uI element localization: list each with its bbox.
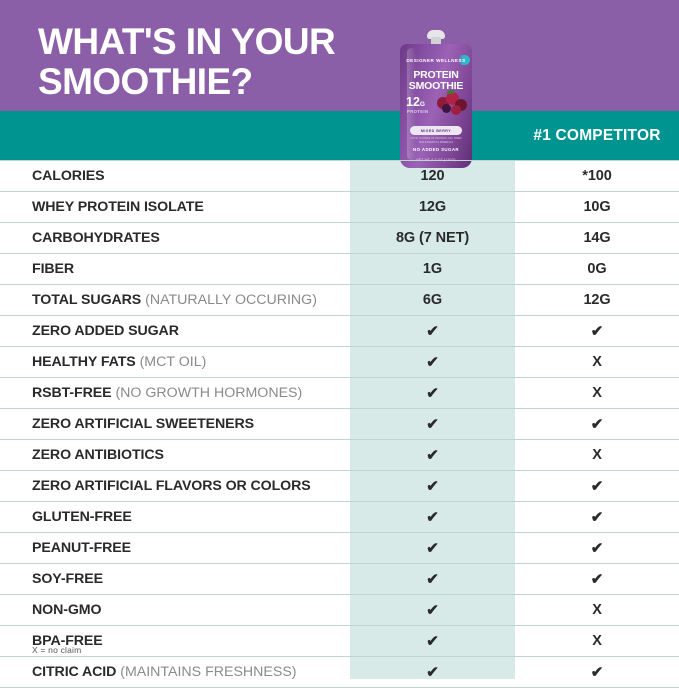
page-title-line1: WHAT'S IN YOUR [38,21,335,62]
product-value: 8G (7 NET) [350,230,515,246]
row-label: HEALTHY FATS (MCT OIL) [0,354,350,370]
competitor-value: X [515,633,679,649]
product-value-text: 12G [419,199,446,215]
table-row: RSBT-FREE (NO GROWTH HORMONES)✔X [0,378,679,409]
product-value: ✔ [350,570,515,588]
table-row: ZERO ARTIFICIAL SWEETENERS✔✔ [0,409,679,440]
row-label: CITRIC ACID (MAINTAINS FRESHNESS) [0,664,350,680]
table-row: ZERO ARTIFICIAL FLAVORS OR COLORS✔✔ [0,471,679,502]
check-icon: ✔ [426,571,438,588]
competitor-value: 12G [515,292,679,308]
check-icon: ✔ [591,571,603,588]
product-value-text: 120 [421,168,445,184]
check-icon: ✔ [426,664,438,681]
table-row: NON-GMO✔X [0,595,679,626]
row-label-main: TOTAL SUGARS [32,292,141,308]
table-row: BPA-FREE✔X [0,626,679,657]
row-label-main: ZERO ARTIFICIAL FLAVORS OR COLORS [32,478,311,494]
row-label: NON-GMO [0,602,350,618]
table-row: CITRIC ACID (MAINTAINS FRESHNESS)✔✔ [0,657,679,688]
check-icon: ✔ [591,478,603,495]
competitor-value: ✔ [515,570,679,588]
row-label-main: FIBER [32,261,74,277]
product-pouch-image: DESIGNER WELLNESS PROTEIN SMOOTHIE 12G P… [400,30,472,170]
table-row: ZERO ADDED SUGAR✔✔ [0,316,679,347]
row-label: SOY-FREE [0,571,350,587]
row-label: PEANUT-FREE [0,540,350,556]
row-label: RSBT-FREE (NO GROWTH HORMONES) [0,385,350,401]
product-value: ✔ [350,384,515,402]
product-value: 1G [350,261,515,277]
row-label: GLUTEN-FREE [0,509,350,525]
competitor-value-text: 14G [583,230,610,246]
competitor-value: 14G [515,230,679,246]
pouch-flavor-label: MIXED BERRY [410,126,462,135]
competitor-value-text: 10G [583,199,610,215]
product-value: ✔ [350,632,515,650]
competitor-value: ✔ [515,322,679,340]
x-icon: X [592,633,602,649]
row-label-main: CITRIC ACID [32,664,116,680]
competitor-value-text: 0G [587,261,606,277]
check-icon: ✔ [426,323,438,340]
competitor-value-text: *100 [582,168,611,184]
x-icon: X [592,447,602,463]
competitor-value: ✔ [515,539,679,557]
competitor-value: ✔ [515,477,679,495]
table-row: ZERO ANTIBIOTICS✔X [0,440,679,471]
product-value: ✔ [350,322,515,340]
table-row: CARBOHYDRATES8G (7 NET)14G [0,223,679,254]
product-value: ✔ [350,446,515,464]
competitor-value: ✔ [515,415,679,433]
competitor-value: X [515,354,679,370]
pouch-protein-number: 12 [406,95,420,109]
check-icon: ✔ [591,509,603,526]
competitor-value-text: 12G [583,292,610,308]
competitor-value: ✔ [515,508,679,526]
product-value-text: 6G [423,292,442,308]
row-label-main: PEANUT-FREE [32,540,131,556]
row-label: ZERO ANTIBIOTICS [0,447,350,463]
row-label: FIBER [0,261,350,277]
row-label-note: (NO GROWTH HORMONES) [112,385,303,401]
check-icon: ✔ [426,385,438,402]
page-title-line2: SMOOTHIE? [38,62,378,102]
row-label-main: CARBOHYDRATES [32,230,160,246]
product-value: 120 [350,168,515,184]
page-title: WHAT'S IN YOUR SMOOTHIE? [38,22,378,102]
pouch-body: DESIGNER WELLNESS PROTEIN SMOOTHIE 12G P… [400,44,472,168]
check-icon: ✔ [426,478,438,495]
product-value: 12G [350,199,515,215]
pouch-protein-unit: G [420,101,425,108]
product-value: ✔ [350,415,515,433]
competitor-column-header: #1 COMPETITOR [515,111,679,160]
table-row: GLUTEN-FREE✔✔ [0,502,679,533]
competitor-value: X [515,602,679,618]
row-label: WHEY PROTEIN ISOLATE [0,199,350,215]
table-row: PEANUT-FREE✔✔ [0,533,679,564]
product-value: ✔ [350,353,515,371]
table-row: SOY-FREE✔✔ [0,564,679,595]
row-label-main: NON-GMO [32,602,101,618]
pouch-protein-label: PROTEIN [407,109,428,114]
product-value: ✔ [350,508,515,526]
check-icon: ✔ [426,602,438,619]
check-icon: ✔ [426,540,438,557]
check-icon: ✔ [591,323,603,340]
row-label-note: (NATURALLY OCCURING) [141,292,317,308]
pouch-no-sugar-label: NO ADDED SUGAR [400,147,472,152]
competitor-column-header-label: #1 COMPETITOR [533,127,660,145]
table-row: HEALTHY FATS (MCT OIL)✔X [0,347,679,378]
check-icon: ✔ [426,416,438,433]
competitor-value: 0G [515,261,679,277]
x-icon: X [592,385,602,401]
table-row: FIBER1G0G [0,254,679,285]
pouch-fine-print: GOOD SOURCE OF PROTEIN, FAT, FIBER AND E… [408,137,464,144]
row-label-main: WHEY PROTEIN ISOLATE [32,199,204,215]
check-icon: ✔ [426,633,438,650]
footnote: X = no claim [32,645,81,655]
check-icon: ✔ [591,540,603,557]
competitor-value: 10G [515,199,679,215]
row-label: CARBOHYDRATES [0,230,350,246]
row-label-main: ZERO ARTIFICIAL SWEETENERS [32,416,254,432]
product-value: ✔ [350,601,515,619]
table-row: CALORIES120*100 [0,160,679,192]
row-label: ZERO ARTIFICIAL FLAVORS OR COLORS [0,478,350,494]
competitor-value: X [515,447,679,463]
row-label: ZERO ADDED SUGAR [0,323,350,339]
pouch-product-name: PROTEIN SMOOTHIE [400,70,472,92]
product-value: ✔ [350,539,515,557]
competitor-value: ✔ [515,663,679,681]
row-label-main: ZERO ANTIBIOTICS [32,447,164,463]
comparison-table: CALORIES120*100WHEY PROTEIN ISOLATE12G10… [0,160,679,688]
row-label: CALORIES [0,168,350,184]
check-icon: ✔ [591,664,603,681]
row-label-main: GLUTEN-FREE [32,509,132,525]
check-icon: ✔ [591,416,603,433]
check-icon: ✔ [426,509,438,526]
product-value: 6G [350,292,515,308]
product-value: ✔ [350,663,515,681]
x-icon: X [592,354,602,370]
comparison-infographic: WHAT'S IN YOUR SMOOTHIE? #1 COMPETITOR D… [0,0,679,679]
row-label-main: HEALTHY FATS [32,354,136,370]
competitor-value: X [515,385,679,401]
table-row: WHEY PROTEIN ISOLATE12G10G [0,192,679,223]
check-icon: ✔ [426,447,438,464]
competitor-value: *100 [515,168,679,184]
check-icon: ✔ [426,354,438,371]
row-label-note: (MCT OIL) [136,354,207,370]
product-value-text: 8G (7 NET) [396,230,469,246]
row-label-main: SOY-FREE [32,571,103,587]
row-label: TOTAL SUGARS (NATURALLY OCCURING) [0,292,350,308]
product-value: ✔ [350,477,515,495]
pouch-brand-label: DESIGNER WELLNESS [400,58,472,63]
table-row: TOTAL SUGARS (NATURALLY OCCURING)6G12G [0,285,679,316]
x-icon: X [592,602,602,618]
row-label-main: ZERO ADDED SUGAR [32,323,179,339]
product-value-text: 1G [423,261,442,277]
row-label-main: CALORIES [32,168,105,184]
row-label-note: (MAINTAINS FRESHNESS) [116,664,296,680]
row-label: ZERO ARTIFICIAL SWEETENERS [0,416,350,432]
row-label-main: RSBT-FREE [32,385,112,401]
berries-icon [435,90,469,116]
